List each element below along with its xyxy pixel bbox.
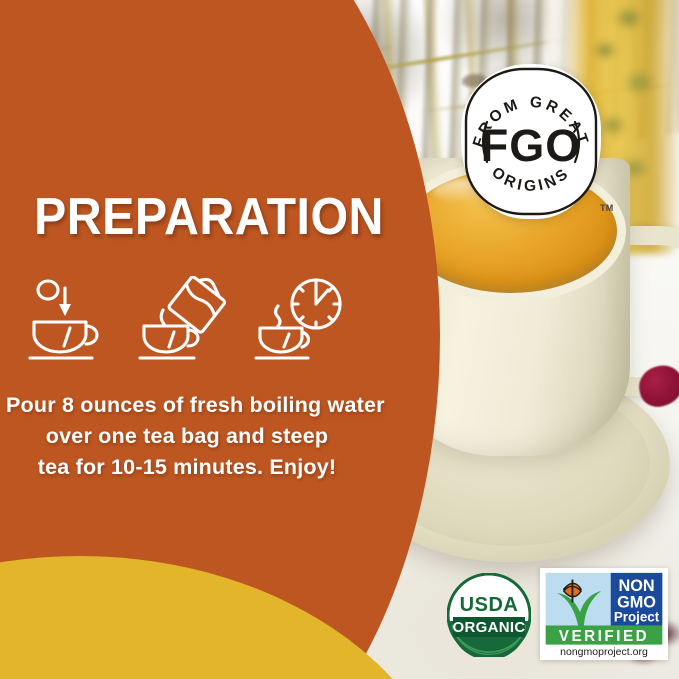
page-title: PREPARATION <box>34 191 384 243</box>
svg-text:VERIFIED: VERIFIED <box>559 628 649 645</box>
panel-content: PREPARATION <box>0 0 380 560</box>
svg-text:Project: Project <box>614 610 660 625</box>
instruction-line-2: over one tea bag and steep <box>6 421 368 452</box>
trademark-symbol: TM <box>600 203 614 213</box>
pouring-pouch-into-steaming-cup-icon <box>136 276 228 364</box>
instruction-line-3: tea for 10-15 minutes. Enjoy! <box>6 452 368 483</box>
usda-organic-seal: USDA ORGANIC <box>447 573 531 657</box>
steaming-cup-with-clock-icon <box>254 276 346 364</box>
svg-text:NON: NON <box>618 577 654 595</box>
preparation-instructions: Pour 8 ounces of fresh boiling water ove… <box>6 390 368 483</box>
instruction-line-1: Pour 8 ounces of fresh boiling water <box>6 390 368 421</box>
svg-text:ORGANIC: ORGANIC <box>453 619 526 636</box>
svg-text:nongmoproject.org: nongmoproject.org <box>560 646 648 658</box>
teabag-drop-into-cup-icon <box>18 276 110 364</box>
svg-text:GMO: GMO <box>617 593 656 611</box>
svg-text:FGO: FGO <box>481 120 582 171</box>
product-image: PREPARATION <box>0 0 679 679</box>
fgo-logo: FROM GREAT ORIGINS FGO <box>461 64 601 219</box>
svg-text:USDA: USDA <box>460 594 519 616</box>
preparation-steps <box>18 276 348 364</box>
non-gmo-project-verified-badge: NON GMO Project VERIFIED nongmoproject.o… <box>540 568 668 660</box>
